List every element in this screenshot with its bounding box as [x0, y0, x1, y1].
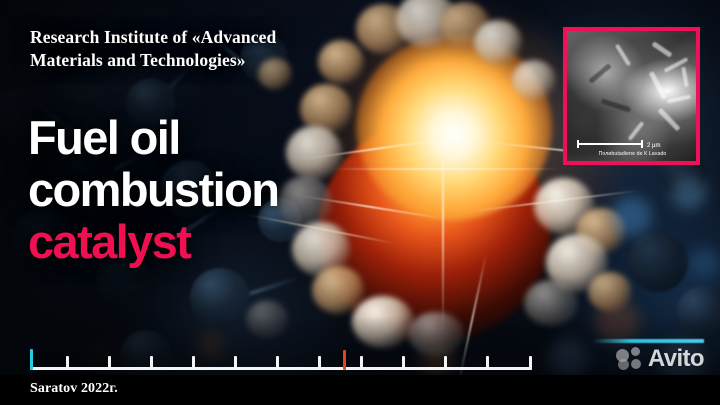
sem-image: 2 µm Полиbutadiene de К Lavado — [567, 31, 696, 161]
watermark-accent-bar — [592, 339, 704, 343]
ruler-tick — [360, 356, 363, 370]
page-title: Fuel oil combustion catalyst — [28, 112, 488, 268]
footer-location-year: Saratov 2022г. — [30, 381, 118, 397]
sem-flake — [628, 121, 645, 141]
ruler-tick — [444, 356, 447, 370]
sem-flake — [651, 41, 672, 57]
title-accent: catalyst — [28, 216, 488, 268]
ruler-tick — [150, 356, 153, 370]
presentation-slide: Research Institute of «Advanced Material… — [0, 0, 720, 405]
ruler-tick — [402, 356, 405, 370]
ruler-baseline — [30, 367, 532, 370]
avito-label: Avito — [648, 347, 704, 371]
title-line-1: Fuel oil — [28, 112, 488, 164]
ruler-graphic — [30, 348, 532, 370]
avito-watermark: Avito — [616, 347, 704, 371]
sem-scale-label: 2 µm — [647, 143, 660, 149]
sem-flake — [588, 63, 611, 84]
footer-bar: Saratov 2022г. — [0, 375, 720, 405]
title-line-2: combustion — [28, 164, 488, 216]
sem-micrograph-inset: 2 µm Полиbutadiene de К Lavado — [563, 27, 700, 165]
organization-line-2: Materials and Technologies» — [30, 49, 430, 72]
sem-flake — [667, 95, 691, 104]
sem-flake — [649, 71, 667, 100]
sem-scale-bar — [577, 143, 643, 145]
ruler-tick — [318, 356, 321, 370]
ruler-tick — [529, 356, 532, 370]
ruler-tick — [276, 356, 279, 370]
ruler-tick — [66, 356, 69, 370]
sem-flake — [657, 108, 680, 132]
ruler-tick-marker — [343, 350, 346, 370]
sem-flake — [681, 67, 688, 87]
sem-flake — [601, 98, 631, 112]
ruler-tick — [234, 356, 237, 370]
organization-line-1: Research Institute of «Advanced — [30, 26, 430, 49]
ruler-tick — [486, 356, 489, 370]
sem-flake — [615, 44, 631, 66]
avito-logo-icon — [616, 347, 642, 371]
sem-caption: Полиbutadiene de К Lavado — [573, 151, 692, 157]
ruler-tick — [192, 356, 195, 370]
organization-heading: Research Institute of «Advanced Material… — [30, 26, 430, 72]
ruler-tick — [108, 356, 111, 370]
ruler-tick-start — [30, 349, 33, 370]
